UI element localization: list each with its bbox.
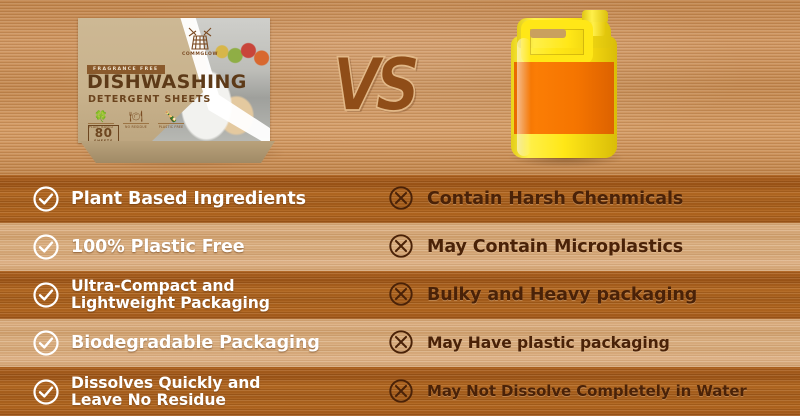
feature-sink: 🍽 NO RESIDUE	[123, 111, 149, 129]
con-cell: Bulky and Heavy packaging	[383, 271, 800, 319]
sheet-count-number: 80	[94, 127, 113, 139]
feature-plastic-free: 🍾 PLASTIC FREE	[158, 111, 184, 129]
vs-label: VS	[333, 41, 416, 127]
product-title: DISHWASHING	[87, 73, 247, 92]
pro-cell: Plant Based Ingredients	[0, 175, 383, 223]
con-cell: May Not Dissolve Completely in Water	[383, 367, 800, 416]
con-text: Contain Harsh Chenmicals	[427, 190, 683, 209]
check-circle-icon	[32, 329, 60, 357]
comparison-row: Biodegradable PackagingMay Have plastic …	[0, 319, 800, 367]
pro-text: 100% Plastic Free	[71, 238, 245, 257]
comparison-row: Ultra-Compact andLightweight PackagingBu…	[0, 271, 800, 319]
comparison-row: 100% Plastic FreeMay Contain Microplasti…	[0, 223, 800, 271]
check-circle-icon	[32, 281, 60, 309]
product-box: COMMGLOW FRAGRANCE FREE DISHWASHING DETE…	[78, 18, 288, 168]
pro-cell: 100% Plastic Free	[0, 223, 383, 271]
vs-badge: VS	[318, 48, 430, 120]
comparison-row: Plant Based IngredientsContain Harsh Che…	[0, 175, 800, 223]
check-circle-icon	[32, 378, 60, 406]
jerrycan-handle-hole	[530, 29, 566, 38]
jerrycan-label	[514, 62, 614, 134]
sheet-count-badge: 80 SHEETS	[88, 125, 119, 143]
pro-text: Biodegradable Packaging	[71, 334, 320, 353]
con-cell: Contain Harsh Chenmicals	[383, 175, 800, 223]
x-circle-icon	[388, 329, 416, 357]
check-circle-icon	[32, 233, 60, 261]
hero-section: COMMGLOW FRAGRANCE FREE DISHWASHING DETE…	[0, 0, 800, 175]
feature-label: NO RESIDUE	[123, 123, 149, 129]
eco-icon: 🍀	[88, 111, 114, 122]
competitor-jerrycan	[505, 8, 627, 168]
x-circle-icon	[388, 185, 416, 213]
product-subtitle: DETERGENT SHEETS	[88, 94, 211, 105]
con-text: May Have plastic packaging	[427, 335, 670, 352]
pro-cell: Dissolves Quickly andLeave No Residue	[0, 367, 383, 416]
con-cell: May Have plastic packaging	[383, 319, 800, 367]
con-cell: May Contain Microplastics	[383, 223, 800, 271]
x-circle-icon	[388, 233, 416, 261]
x-circle-icon	[388, 378, 416, 406]
bottle-free-icon: 🍾	[158, 111, 184, 122]
sink-icon: 🍽	[123, 111, 149, 122]
comparison-rows: Plant Based IngredientsContain Harsh Che…	[0, 175, 800, 416]
pro-text: Plant Based Ingredients	[71, 190, 306, 209]
pro-text: Dissolves Quickly andLeave No Residue	[71, 375, 260, 408]
jerrycan-handle	[521, 20, 593, 64]
pro-cell: Ultra-Compact andLightweight Packaging	[0, 271, 383, 319]
con-text: May Not Dissolve Completely in Water	[427, 384, 747, 400]
con-text: May Contain Microplastics	[427, 238, 683, 257]
windmill-icon	[185, 27, 215, 51]
product-box-bottom-face	[76, 141, 275, 163]
comparison-infographic: COMMGLOW FRAGRANCE FREE DISHWASHING DETE…	[0, 0, 800, 416]
brand-name: COMMGLOW	[174, 52, 226, 57]
feature-label: PLASTIC FREE	[158, 123, 184, 129]
x-circle-icon	[388, 281, 416, 309]
brand-logo: COMMGLOW	[174, 27, 226, 57]
con-text: Bulky and Heavy packaging	[427, 286, 697, 305]
comparison-row: Dissolves Quickly andLeave No ResidueMay…	[0, 367, 800, 416]
check-circle-icon	[32, 185, 60, 213]
jerrycan-foot	[511, 134, 617, 158]
pro-cell: Biodegradable Packaging	[0, 319, 383, 367]
product-box-front: COMMGLOW FRAGRANCE FREE DISHWASHING DETE…	[78, 18, 270, 143]
pro-text: Ultra-Compact andLightweight Packaging	[71, 278, 270, 311]
